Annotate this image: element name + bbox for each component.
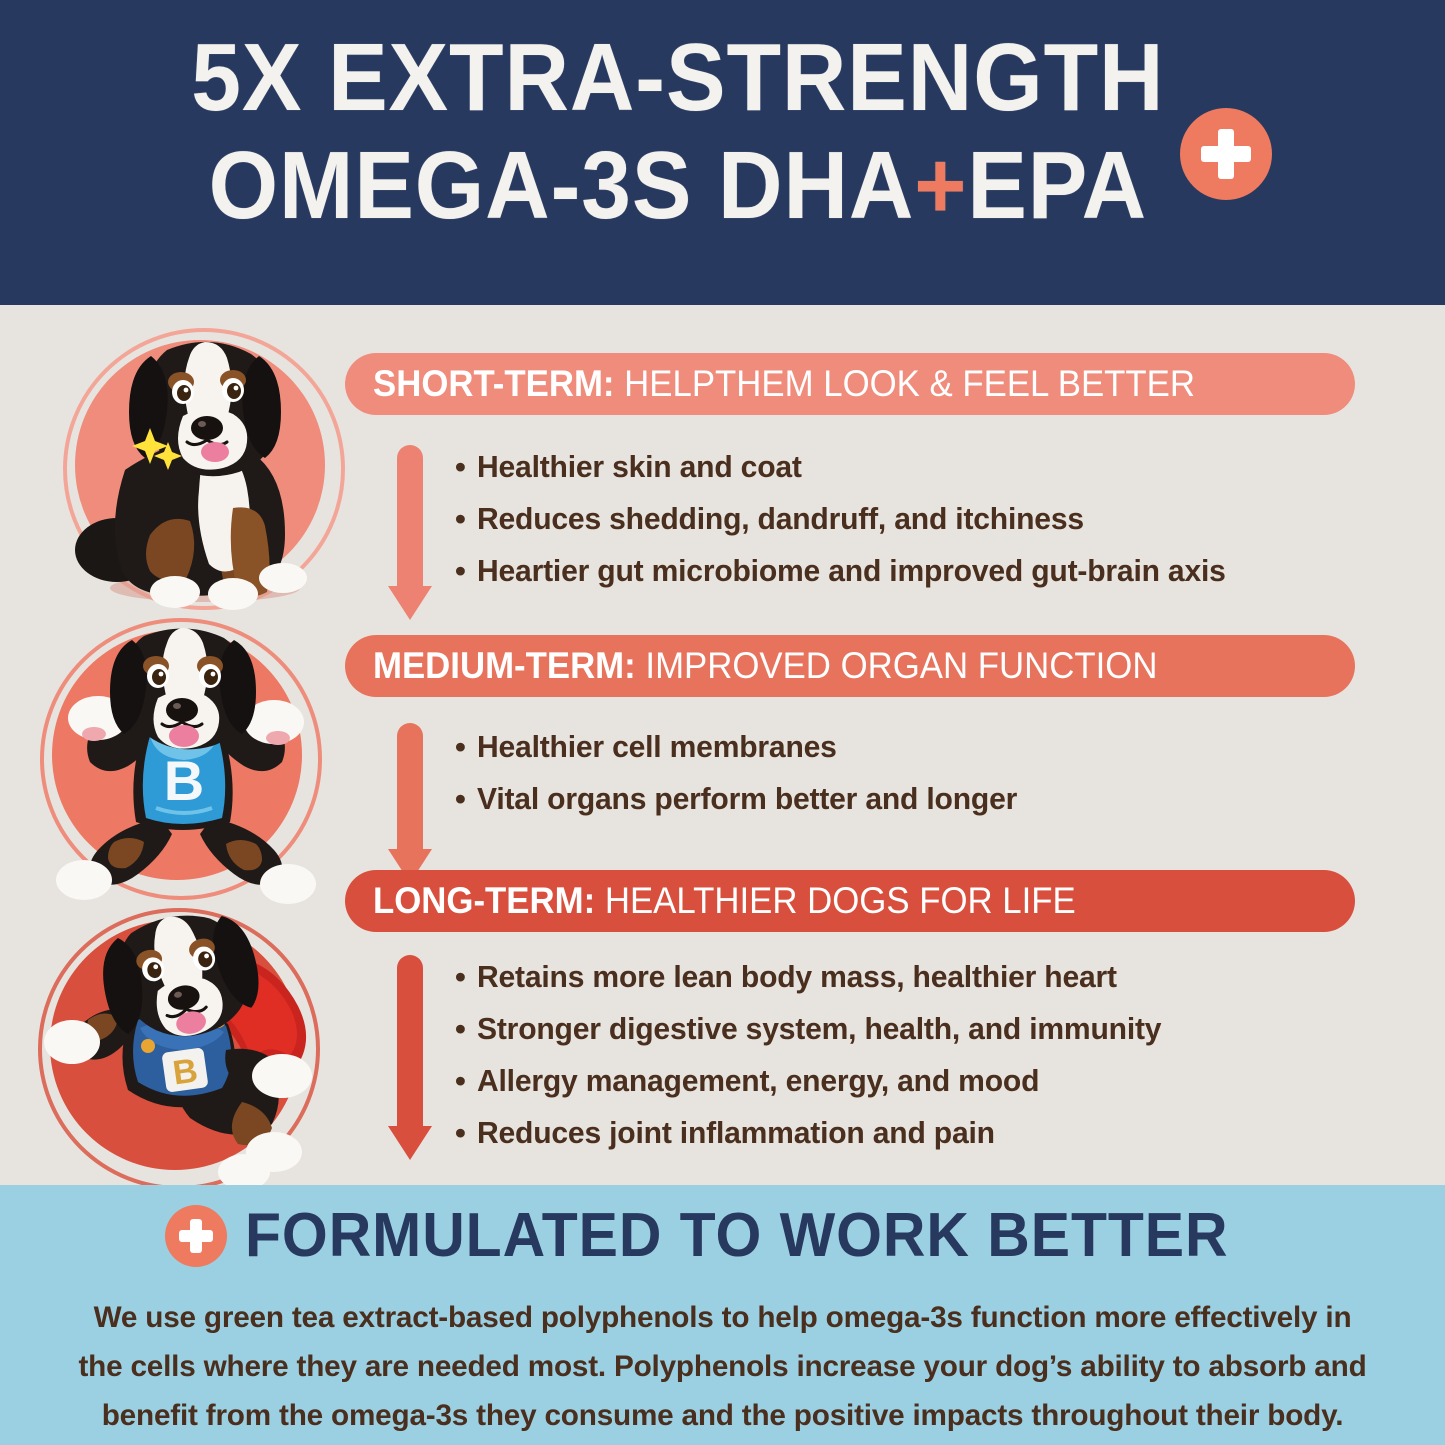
bullet-text: Retains more lean body mass, healthier h…: [477, 960, 1117, 994]
header-plus-badge: [1180, 108, 1272, 200]
list-item: •Vital organs perform better and longer: [455, 782, 1034, 816]
banner-medium-term-label: MEDIUM-TERM: IMPROVED ORGAN FUNCTION: [373, 646, 1157, 686]
list-item: •Retains more lean body mass, healthier …: [455, 960, 1183, 994]
header-title-line2-a: OMEGA-3S DHA: [209, 132, 915, 239]
bullet-text: Heartier gut microbiome and improved gut…: [477, 554, 1226, 588]
footer-heading-row: FORMULATED TO WORK BETTER: [0, 1203, 1445, 1269]
bullet-dot-icon: •: [455, 730, 477, 764]
bullet-list-short-term: •Healthier skin and coat •Reduces sheddi…: [455, 450, 1249, 606]
plus-separator-icon: +: [914, 132, 967, 239]
footer-paragraph-line3: benefit from the omega-3s they consume a…: [47, 1391, 1398, 1440]
list-item: •Allergy management, energy, and mood: [455, 1064, 1183, 1098]
dog-illustration-medium-term: B: [32, 610, 332, 910]
banner-short-term-rest: HELPTHEM LOOK & FEEL BETTER: [615, 363, 1195, 404]
footer-paragraph: We use green tea extract-based polypheno…: [40, 1293, 1405, 1440]
dog-in-blue-jersey-icon: B: [32, 610, 332, 910]
list-item: •Heartier gut microbiome and improved gu…: [455, 554, 1249, 588]
footer-paragraph-line2: the cells where they are needed most. Po…: [47, 1342, 1398, 1391]
plus-icon: [1201, 129, 1251, 179]
bullet-text: Allergy management, energy, and mood: [477, 1064, 1039, 1098]
header-title-line2-b: EPA: [967, 132, 1147, 239]
bullet-dot-icon: •: [455, 502, 477, 536]
bullet-dot-icon: •: [455, 782, 477, 816]
down-arrow-short-term-icon: [388, 445, 432, 620]
banner-short-term[interactable]: SHORT-TERM: HELPTHEM LOOK & FEEL BETTER: [345, 353, 1355, 415]
down-arrow-medium-term-icon: [388, 723, 432, 883]
header-banner: 5X EXTRA-STRENGTH OMEGA-3S DHA+EPA: [0, 0, 1445, 305]
list-item: •Reduces shedding, dandruff, and itchine…: [455, 502, 1249, 536]
bullet-dot-icon: •: [455, 1012, 477, 1046]
list-item: •Healthier cell membranes: [455, 730, 1034, 764]
infographic-page: 5X EXTRA-STRENGTH OMEGA-3S DHA+EPA: [0, 0, 1445, 1445]
bullet-dot-icon: •: [455, 960, 477, 994]
banner-long-term-rest: HEALTHIER DOGS FOR LIFE: [595, 880, 1076, 921]
plus-icon: [179, 1219, 213, 1253]
banner-medium-term[interactable]: MEDIUM-TERM: IMPROVED ORGAN FUNCTION: [345, 635, 1355, 697]
banner-short-term-label: SHORT-TERM: HELPTHEM LOOK & FEEL BETTER: [373, 364, 1195, 404]
bullet-dot-icon: •: [455, 1116, 477, 1150]
banner-long-term-label: LONG-TERM: HEALTHIER DOGS FOR LIFE: [373, 881, 1076, 921]
footer-title: FORMULATED TO WORK BETTER: [245, 1203, 1229, 1269]
svg-text:B: B: [170, 1051, 200, 1092]
banner-medium-term-bold: MEDIUM-TERM:: [373, 645, 636, 686]
bullet-text: Reduces joint inflammation and pain: [477, 1116, 995, 1150]
header-title-line1: 5X EXTRA-STRENGTH: [51, 24, 1395, 132]
svg-text:B: B: [164, 749, 204, 812]
banner-short-term-bold: SHORT-TERM:: [373, 363, 615, 404]
superhero-dog-with-red-cape-icon: B: [30, 900, 330, 1200]
down-arrow-long-term-icon: [388, 955, 432, 1160]
footer-paragraph-line1: We use green tea extract-based polypheno…: [47, 1293, 1398, 1342]
banner-long-term-bold: LONG-TERM:: [373, 880, 595, 921]
list-item: •Reduces joint inflammation and pain: [455, 1116, 1183, 1150]
banner-medium-term-rest: IMPROVED ORGAN FUNCTION: [636, 645, 1158, 686]
dog-illustration-long-term: B: [30, 900, 330, 1200]
bullet-text: Vital organs perform better and longer: [477, 782, 1017, 816]
footer-section: FORMULATED TO WORK BETTER We use green t…: [0, 1185, 1445, 1445]
list-item: •Healthier skin and coat: [455, 450, 1249, 484]
bullet-dot-icon: •: [455, 554, 477, 588]
banner-long-term[interactable]: LONG-TERM: HEALTHIER DOGS FOR LIFE: [345, 870, 1355, 932]
bullet-list-long-term: •Retains more lean body mass, healthier …: [455, 960, 1183, 1168]
sitting-dog-with-sparkles-icon: [55, 320, 355, 620]
bullet-text: Reduces shedding, dandruff, and itchines…: [477, 502, 1084, 536]
bullet-dot-icon: •: [455, 450, 477, 484]
bullet-dot-icon: •: [455, 1064, 477, 1098]
bullet-text: Healthier cell membranes: [477, 730, 837, 764]
list-item: •Stronger digestive system, health, and …: [455, 1012, 1183, 1046]
bullet-text: Healthier skin and coat: [477, 450, 802, 484]
dog-illustration-short-term: [55, 320, 355, 620]
bullet-text: Stronger digestive system, health, and i…: [477, 1012, 1161, 1046]
footer-plus-badge: [165, 1205, 227, 1267]
benefits-section: SHORT-TERM: HELPTHEM LOOK & FEEL BETTER …: [0, 305, 1445, 1185]
bullet-list-medium-term: •Healthier cell membranes •Vital organs …: [455, 730, 1034, 834]
